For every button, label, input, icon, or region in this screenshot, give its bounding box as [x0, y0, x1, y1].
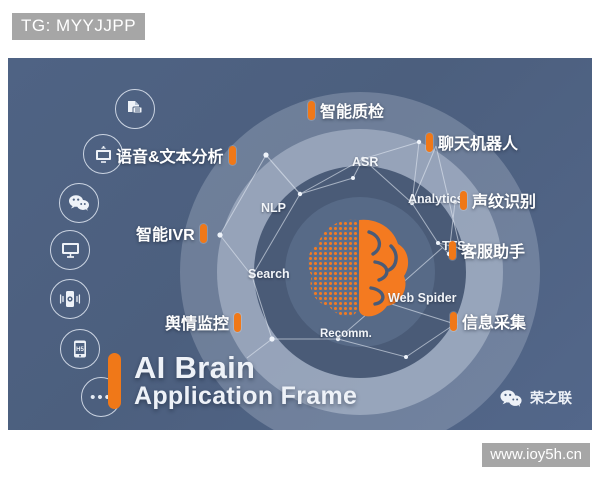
title-text-group: AI Brain Application Frame: [134, 352, 357, 410]
label-marker-pill: [229, 146, 236, 165]
label-marker-pill: [200, 224, 207, 243]
document-form-icon: [125, 99, 145, 119]
channel-h5-phone-icon[interactable]: H5: [60, 329, 100, 369]
node-label-web-spider: Web Spider: [388, 291, 457, 305]
label-marker-pill: [450, 312, 457, 331]
poster-title-main: AI Brain: [134, 352, 357, 384]
h5-phone-icon: H5: [71, 339, 89, 359]
wechat-icon: [499, 389, 523, 408]
node-label-search: Search: [248, 267, 290, 281]
app-label-voice-text-analysis: 语音&文本分析: [116, 143, 236, 167]
ai-brain-poster: ASR Analytics TTS Web Spider Recomm. Sea…: [8, 58, 592, 430]
label-marker-pill: [426, 133, 433, 152]
label-marker-pill: [460, 191, 467, 210]
poster-title-sub: Application Frame: [134, 384, 357, 410]
app-label-customer-service-assistant: 客服助手: [449, 238, 525, 262]
brain-icon: [303, 216, 415, 322]
node-label-analytics: Analytics: [408, 192, 464, 206]
app-label-intelligent-quality-inspection: 智能质检: [308, 98, 384, 122]
channel-web-monitor-icon[interactable]: [83, 134, 123, 174]
tv-screen-icon: [60, 241, 81, 259]
node-label-recomm: Recomm.: [320, 328, 372, 340]
wechat-icon: [68, 194, 90, 212]
label-marker-pill: [234, 313, 241, 332]
app-label-public-opinion-monitoring: 舆情监控: [165, 310, 241, 334]
web-monitor-icon: [93, 144, 114, 165]
telegram-watermark: TG: MYYJJPP: [12, 13, 145, 40]
app-label-voiceprint-recognition: 声纹识别: [460, 188, 536, 212]
poster-inner: ASR Analytics TTS Web Spider Recomm. Sea…: [8, 58, 592, 430]
node-label-asr: ASR: [352, 155, 378, 169]
title-marker-pill: [108, 353, 121, 409]
svg-text:H5: H5: [76, 347, 84, 353]
channel-wechat-icon[interactable]: [59, 183, 99, 223]
site-watermark: www.ioy5h.cn: [482, 443, 590, 467]
brand-block: 荣之联: [499, 388, 572, 408]
app-label-information-collection: 信息采集: [450, 309, 526, 333]
poster-title-block: AI Brain Application Frame: [108, 352, 357, 410]
screenshot-canvas: TG: MYYJJPP: [0, 0, 600, 480]
app-label-chatbot: 聊天机器人: [426, 130, 518, 154]
node-label-nlp: NLP: [261, 201, 286, 215]
channel-document-form-icon[interactable]: [115, 89, 155, 129]
mobile-vibrate-icon: [59, 289, 81, 309]
channel-mobile-vibrate-icon[interactable]: [50, 279, 90, 319]
label-marker-pill: [449, 241, 456, 260]
channel-tv-screen-icon[interactable]: [50, 230, 90, 270]
label-marker-pill: [308, 101, 315, 120]
brand-name: 荣之联: [530, 388, 572, 408]
app-label-intelligent-ivr: 智能IVR: [136, 221, 207, 245]
